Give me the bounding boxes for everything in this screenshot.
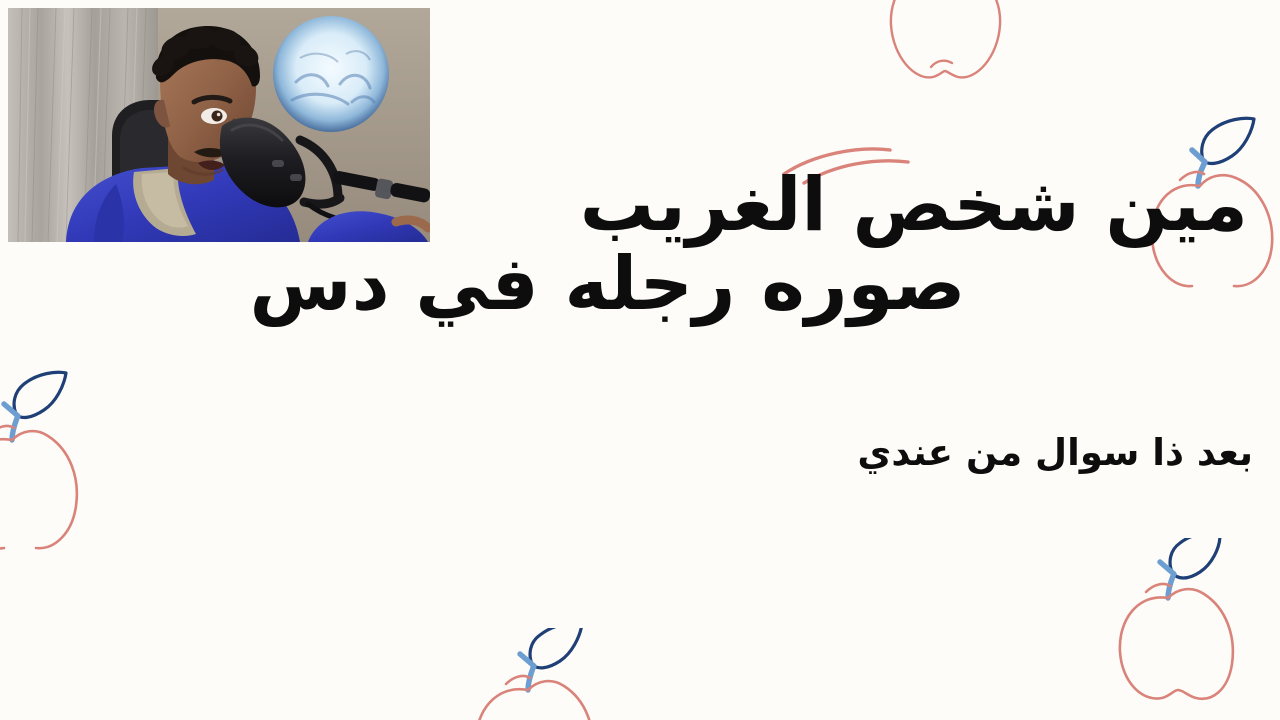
- slide-canvas: مين شخص الغريب صوره رجله في دس بعد ذا سو…: [0, 0, 1280, 720]
- apple-doodle-left-partial: [0, 368, 142, 572]
- headline-line-2: صوره رجله في دس: [0, 247, 1250, 322]
- video-thumbnail[interactable]: [8, 8, 430, 242]
- subline-caption: بعد ذا سوال من عندي: [857, 434, 1253, 472]
- apple-doodle-bottom-right: [1108, 538, 1280, 720]
- video-frame-image: [8, 8, 430, 242]
- apple-doodle-bottom-center: [466, 628, 656, 720]
- apple-icon: [0, 368, 142, 568]
- apple-doodle-top-right: [845, 0, 1045, 109]
- apple-icon: [466, 628, 656, 720]
- apple-icon: [1108, 538, 1280, 718]
- apple-icon: [845, 0, 1045, 105]
